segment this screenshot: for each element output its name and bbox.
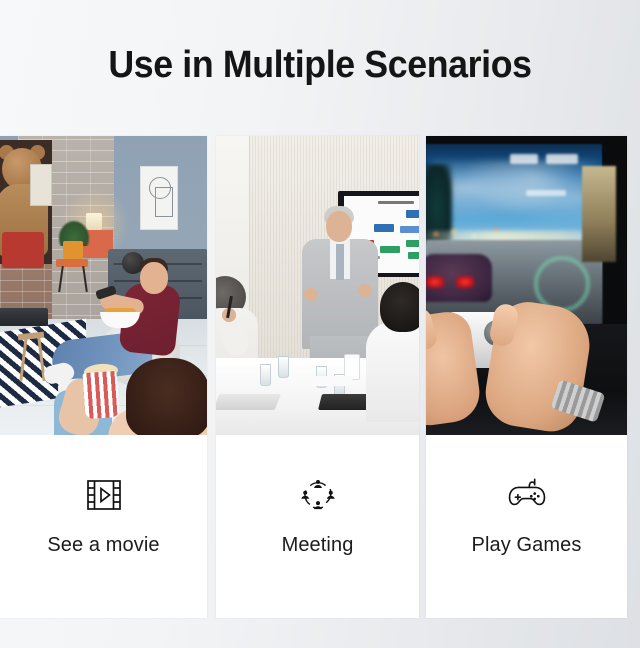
photo-gaming [426,136,627,435]
photo-meeting-room [216,136,419,435]
gamepad-icon [506,473,548,517]
scenario-card-play-games[interactable]: Play Games [426,136,627,618]
scenario-label: Play Games [472,533,582,557]
scenario-label: Meeting [282,533,354,557]
scenario-card-meeting[interactable]: Meeting [216,136,419,618]
scenarios-page: Use in Multiple Scenarios [0,0,640,648]
people-meeting-icon [300,473,336,517]
scenario-label: See a movie [47,533,159,557]
film-play-icon [87,473,121,517]
caption-play-games: Play Games [426,435,627,618]
page-title: Use in Multiple Scenarios [19,42,621,88]
scenario-card-list: See a movie [0,136,640,618]
caption-see-a-movie: See a movie [0,435,207,618]
photo-living-room [0,136,207,435]
caption-meeting: Meeting [216,435,419,618]
scenario-card-see-a-movie[interactable]: See a movie [0,136,207,618]
